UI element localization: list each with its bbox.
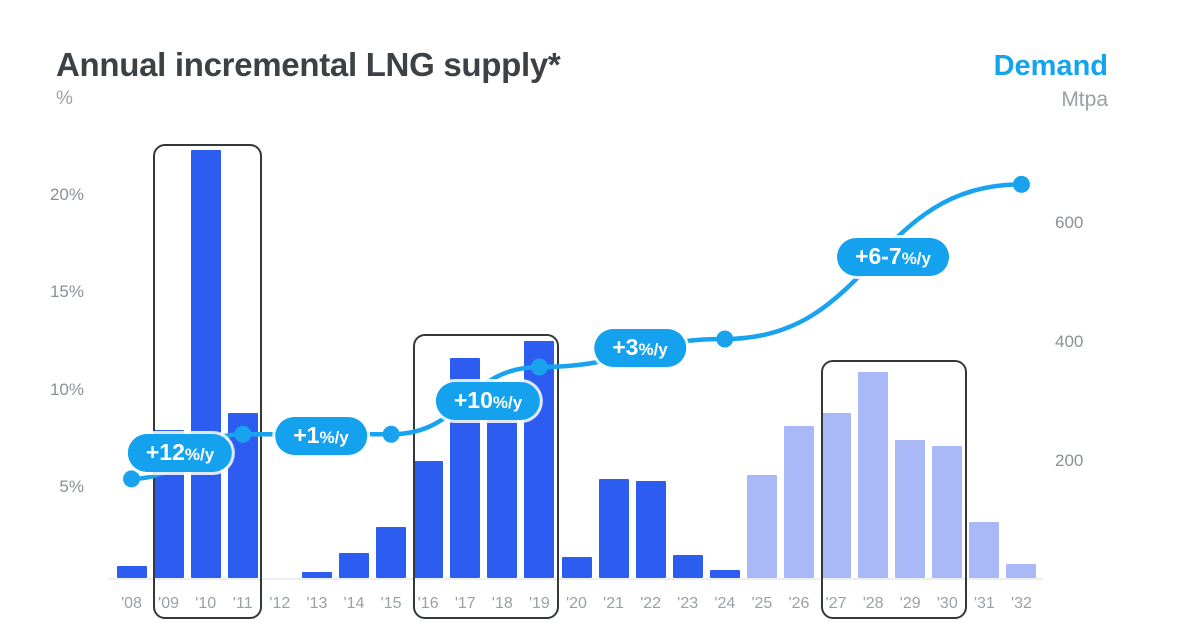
demand-point-marker [716,331,733,348]
growth-rate-badge: +6-7%/y [837,238,949,276]
growth-rate-unit: %/y [319,428,348,447]
chart-canvas: Annual incremental LNG supply* % Demand … [0,0,1200,639]
growth-rate-unit: %/y [902,249,931,268]
growth-rate-value: +12 [146,439,185,465]
growth-rate-unit: %/y [493,393,522,412]
growth-rate-value: +3 [612,334,638,360]
growth-rate-unit: %/y [638,340,667,359]
demand-point-marker [1013,176,1030,193]
growth-rate-badge: +10%/y [436,382,540,420]
demand-line-chart [0,0,1200,639]
growth-rate-value: +6-7 [855,243,902,269]
demand-line-path [132,184,1022,479]
demand-point-marker [383,426,400,443]
growth-rate-value: +10 [454,387,493,413]
growth-rate-badge: +1%/y [275,417,367,455]
demand-point-marker [234,426,251,443]
growth-rate-value: +1 [293,422,319,448]
growth-rate-unit: %/y [185,445,214,464]
demand-point-marker [123,470,140,487]
demand-point-marker [531,358,548,375]
growth-rate-badge: +3%/y [594,329,686,367]
growth-rate-badge: +12%/y [128,434,232,472]
